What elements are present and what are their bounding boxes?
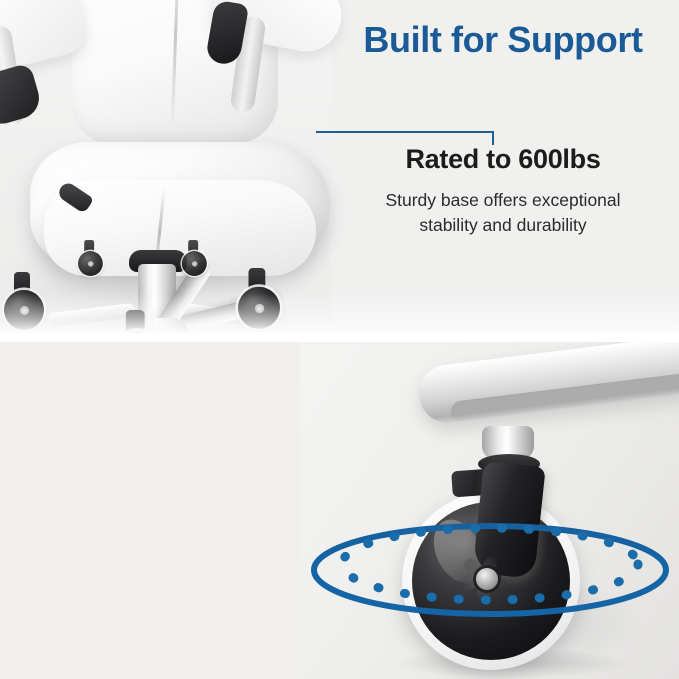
caster-hub [88,261,94,267]
caster-fork [126,310,145,333]
base-center-hub [126,318,188,333]
feature-body-line-1: Sturdy base offers exceptional [385,190,620,210]
base-leg-right [144,320,276,333]
gas-cylinder [138,264,176,330]
caster-tire [4,290,44,330]
infographic-canvas: Built for Support Rated to 600lbs Sturdy… [0,0,679,679]
caster-fork [14,272,30,298]
orbit-dotted-ellipse [342,528,638,600]
connector-tick-down [492,131,494,145]
panel-divider [0,333,679,342]
base-leg-highlight-b [47,303,136,328]
caster-tire [238,287,280,329]
base-leg-left [152,292,282,333]
chair-base-photo [0,0,331,333]
feature-body-rated: Sturdy base offers exceptional stability… [330,188,676,239]
caster-hub [20,306,29,315]
connector-line-top [316,131,494,145]
motion-orbit-graphic [300,342,679,679]
page-title: Built for Support [335,20,671,60]
panel-silent-smooth-wheels: Silent & Smooth Wheels Allowing you to s… [0,342,679,679]
feature-heading-rated: Rated to 600lbs [330,144,676,175]
panel-built-for-support: Built for Support Rated to 600lbs Sturdy… [0,0,679,333]
caster-hub [255,304,264,313]
base-leg-highlight-a [177,302,270,327]
connector-horizontal-rule [316,131,494,133]
caster-wheel-photo [300,342,679,679]
caster-hub [192,261,198,267]
feature-body-line-2: stability and durability [419,215,586,235]
